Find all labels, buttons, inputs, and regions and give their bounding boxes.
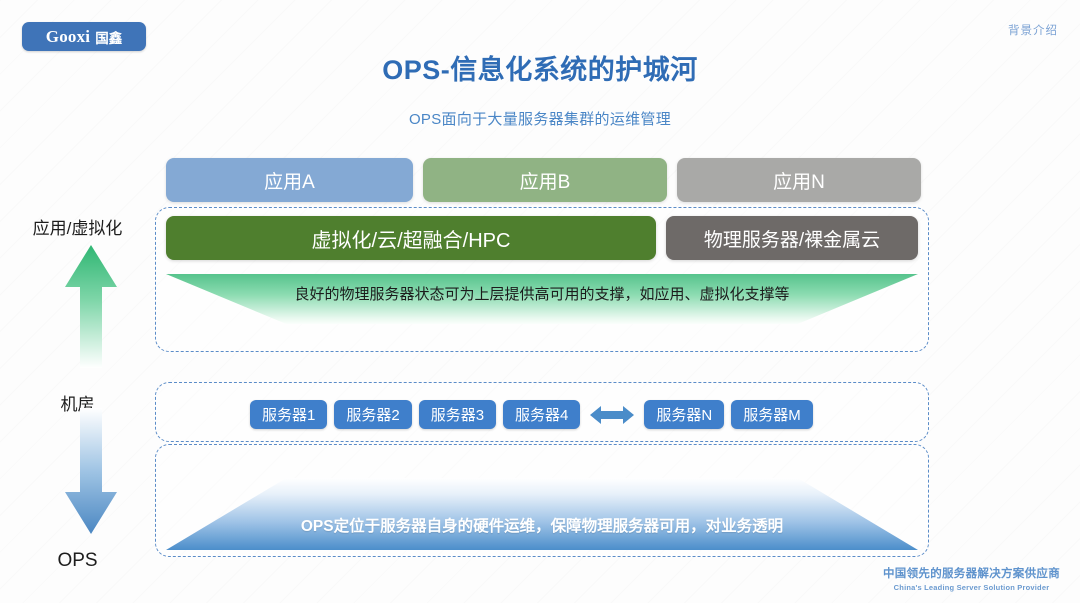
- app-box-b[interactable]: 应用B: [423, 158, 667, 202]
- platform-box-bare-metal[interactable]: 物理服务器/裸金属云: [666, 216, 918, 260]
- server-chip-n[interactable]: 服务器N: [644, 400, 724, 429]
- server-row: 服务器1 服务器2 服务器3 服务器4 服务器N 服务器M: [250, 400, 813, 429]
- blue-ops-banner: OPS定位于服务器自身的硬件运维，保障物理服务器可用，对业务透明: [166, 478, 918, 550]
- page-title: OPS-信息化系统的护城河: [0, 48, 1080, 87]
- brand-logo: Gooxi 国鑫: [22, 22, 146, 51]
- server-chip-2[interactable]: 服务器2: [334, 400, 411, 429]
- slide-canvas: Gooxi 国鑫 背景介绍 OPS-信息化系统的护城河 OPS面向于大量服务器集…: [0, 0, 1080, 603]
- double-arrow-icon: [590, 404, 634, 426]
- green-support-banner: 良好的物理服务器状态可为上层提供高可用的支撑，如应用、虚拟化支撑等: [166, 274, 918, 324]
- app-box-a[interactable]: 应用A: [166, 158, 413, 202]
- rail-label-application: 应用/虚拟化: [0, 214, 155, 239]
- footer-slogan-en: China's Leading Server Solution Provider: [883, 583, 1060, 593]
- rail-label-ops: OPS: [0, 550, 155, 572]
- server-chip-3[interactable]: 服务器3: [419, 400, 496, 429]
- server-chip-m[interactable]: 服务器M: [731, 400, 813, 429]
- application-row: 应用A 应用B 应用N: [166, 158, 921, 202]
- platform-box-virtualization[interactable]: 虚拟化/云/超融合/HPC: [166, 216, 656, 260]
- brand-logo-en: Gooxi: [46, 27, 90, 47]
- server-chip-4[interactable]: 服务器4: [503, 400, 580, 429]
- blue-ops-banner-text: OPS定位于服务器自身的硬件运维，保障物理服务器可用，对业务透明: [301, 514, 783, 536]
- server-chip-1[interactable]: 服务器1: [250, 400, 327, 429]
- platform-row: 虚拟化/云/超融合/HPC 物理服务器/裸金属云: [166, 216, 918, 260]
- section-kicker: 背景介绍: [1008, 22, 1058, 38]
- up-arrow-icon: [62, 243, 120, 368]
- app-box-n[interactable]: 应用N: [677, 158, 921, 202]
- page-subtitle: OPS面向于大量服务器集群的运维管理: [0, 108, 1080, 129]
- brand-logo-cn: 国鑫: [95, 27, 122, 47]
- green-support-banner-text: 良好的物理服务器状态可为上层提供高可用的支撑，如应用、虚拟化支撑等: [294, 283, 789, 304]
- footer-slogan: 中国领先的服务器解决方案供应商 China's Leading Server S…: [883, 567, 1060, 593]
- footer-slogan-cn: 中国领先的服务器解决方案供应商: [883, 567, 1060, 583]
- down-arrow-icon: [62, 408, 120, 536]
